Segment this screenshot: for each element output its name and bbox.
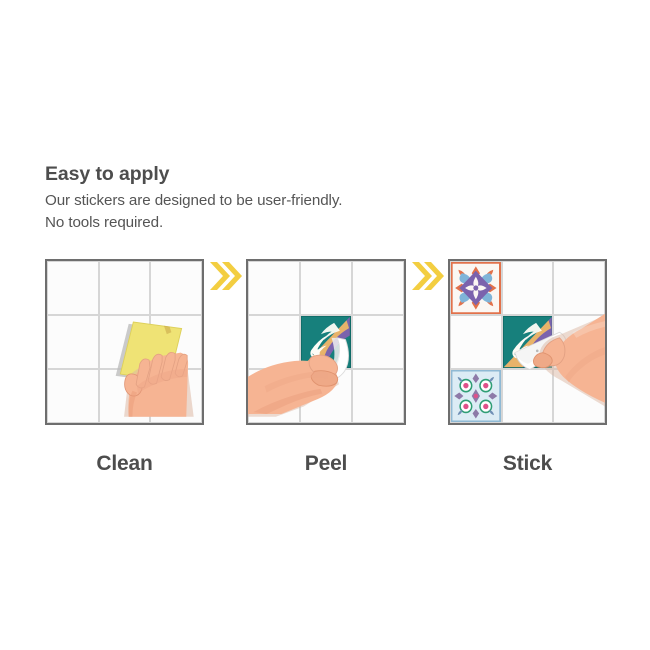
tile	[353, 316, 403, 368]
double-chevron-right-icon	[410, 259, 444, 293]
tile-purple-medallion	[451, 262, 501, 314]
tile	[151, 316, 201, 368]
step-label-clean: Clean	[45, 453, 204, 474]
tile	[249, 262, 299, 314]
intro-line-1: Our stickers are designed to be user-fri…	[45, 190, 565, 212]
panel-clean	[45, 259, 204, 425]
step-label-stick: Stick	[448, 453, 607, 474]
step-label-peel: Peel	[247, 453, 406, 474]
tile-blue-circles	[451, 370, 501, 422]
tile	[249, 316, 299, 368]
page-title: Easy to apply	[45, 163, 565, 186]
tile-grid-stick	[450, 261, 605, 423]
steps-illustration-row	[45, 259, 607, 427]
tile-grid-peel	[248, 261, 403, 423]
tile	[353, 370, 403, 422]
intro-line-2: No tools required.	[45, 212, 565, 234]
tile	[353, 262, 403, 314]
tile	[151, 370, 201, 422]
arrow-peel-to-stick	[406, 259, 448, 293]
tile	[100, 262, 150, 314]
tile	[151, 262, 201, 314]
tile	[301, 262, 351, 314]
tile	[301, 370, 351, 422]
tile	[100, 370, 150, 422]
tile	[503, 262, 553, 314]
tile	[503, 370, 553, 422]
tile	[451, 316, 501, 368]
step-labels-row: Clean Peel Stick	[45, 443, 607, 483]
tile-teal-scroll-sticker	[301, 316, 351, 368]
tile	[554, 316, 604, 368]
arrow-clean-to-peel	[204, 259, 246, 293]
tile	[554, 262, 604, 314]
tile	[48, 316, 98, 368]
tile-teal-scroll-sticker	[503, 316, 553, 368]
double-chevron-right-icon	[208, 259, 242, 293]
tile	[249, 370, 299, 422]
tile	[48, 262, 98, 314]
panel-stick	[448, 259, 607, 425]
intro-block: Easy to apply Our stickers are designed …	[45, 163, 565, 233]
panel-peel	[246, 259, 405, 425]
tile	[48, 370, 98, 422]
tile-grid-clean	[47, 261, 202, 423]
tile	[554, 370, 604, 422]
tile	[100, 316, 150, 368]
